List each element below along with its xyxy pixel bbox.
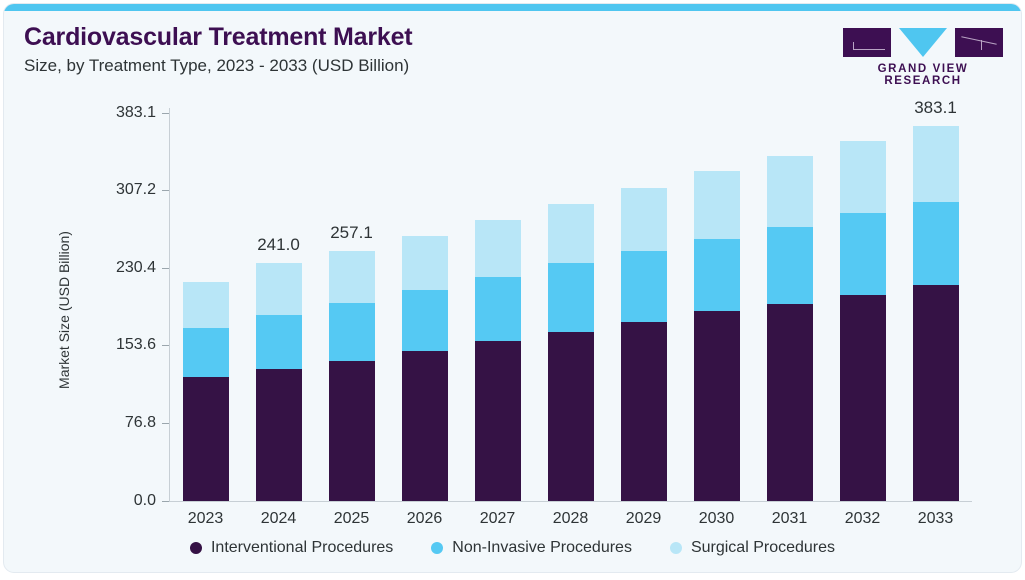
bar-segment[interactable] [475,341,521,501]
bar-segment[interactable] [621,251,667,322]
bar-segment[interactable] [548,332,594,501]
stacked-bar[interactable] [329,251,375,501]
bar-segment[interactable] [694,171,740,239]
stacked-bar[interactable] [475,220,521,501]
x-axis-tick-label: 2028 [531,510,611,528]
legend-label: Non-Invasive Procedures [452,539,632,557]
x-axis-tick-label: 2023 [166,510,246,528]
stacked-bar[interactable] [621,188,667,501]
y-axis-tick-label: 153.6 [74,336,156,354]
bar-segment[interactable] [402,351,448,501]
bar-segment[interactable] [694,239,740,311]
bar-group[interactable] [548,204,594,501]
stacked-bar[interactable] [840,141,886,501]
y-axis-line [169,108,170,501]
legend-color-swatch-icon [670,542,682,554]
bar-group[interactable] [329,251,375,501]
bar-segment[interactable] [767,227,813,304]
y-axis-label-text: Market Size (USD Billion) [56,200,72,420]
bar-group[interactable] [767,156,813,501]
stacked-bar[interactable] [913,126,959,501]
x-axis-tick-label: 2026 [385,510,465,528]
bar-segment[interactable] [256,263,302,315]
bar-chart-plot: Market Size (USD Billion) 0.076.8153.623… [4,4,1021,572]
bar-segment[interactable] [767,156,813,227]
x-axis-tick-label: 2030 [677,510,757,528]
chart-legend: Interventional ProceduresNon-Invasive Pr… [4,539,1021,557]
legend-color-swatch-icon [190,542,202,554]
bar-segment[interactable] [183,377,229,501]
bar-group[interactable] [694,171,740,501]
legend-label: Interventional Procedures [211,539,393,557]
x-axis-tick-label: 2031 [750,510,830,528]
y-axis-tick-mark [162,345,169,346]
bar-segment[interactable] [329,361,375,501]
x-axis-line [169,501,972,502]
bar-value-label: 257.1 [330,223,373,243]
y-axis-label: Market Size (USD Billion) [56,4,72,200]
x-axis-tick-label: 2027 [458,510,538,528]
y-axis-tick-mark [162,113,169,114]
stacked-bar[interactable] [256,263,302,501]
legend-item[interactable]: Surgical Procedures [670,539,835,557]
y-axis-tick-mark [162,190,169,191]
bar-segment[interactable] [548,263,594,332]
stacked-bar[interactable] [694,171,740,501]
bar-segment[interactable] [183,328,229,377]
bar-value-label: 241.0 [257,235,300,255]
stacked-bar[interactable] [402,236,448,501]
bar-segment[interactable] [475,220,521,277]
y-axis-tick-mark [162,423,169,424]
legend-label: Surgical Procedures [691,539,835,557]
y-axis-tick-label: 76.8 [74,414,156,432]
bar-segment[interactable] [913,285,959,501]
bar-group[interactable] [840,141,886,501]
bar-segment[interactable] [913,202,959,285]
bar-group[interactable] [183,282,229,501]
bar-group[interactable] [913,126,959,501]
legend-color-swatch-icon [431,542,443,554]
x-axis-tick-label: 2029 [604,510,684,528]
bar-segment[interactable] [329,303,375,361]
bar-segment[interactable] [767,304,813,501]
stacked-bar[interactable] [183,282,229,501]
bar-segment[interactable] [475,277,521,341]
bar-group[interactable] [621,188,667,501]
chart-card: Cardiovascular Treatment Market Size, by… [4,4,1021,572]
bar-segment[interactable] [256,369,302,501]
y-axis-tick-label: 230.4 [74,259,156,277]
bar-segment[interactable] [402,236,448,290]
legend-item[interactable]: Non-Invasive Procedures [431,539,632,557]
bar-value-label: 383.1 [914,98,957,118]
y-axis-tick-mark [162,501,169,502]
stacked-bar[interactable] [767,156,813,501]
bar-segment[interactable] [840,295,886,501]
bar-segment[interactable] [548,204,594,263]
bar-segment[interactable] [329,251,375,303]
bar-segment[interactable] [694,311,740,501]
bar-group[interactable] [402,236,448,501]
x-axis-tick-label: 2033 [896,510,976,528]
x-axis-tick-label: 2024 [239,510,319,528]
bar-group[interactable] [475,220,521,501]
y-axis-tick-label: 383.1 [74,104,156,122]
bar-segment[interactable] [256,315,302,369]
bar-segment[interactable] [402,290,448,351]
bar-group[interactable] [256,263,302,501]
stacked-bar[interactable] [548,204,594,501]
bar-segment[interactable] [913,126,959,202]
bar-segment[interactable] [840,213,886,295]
x-axis-tick-label: 2025 [312,510,392,528]
bar-segment[interactable] [621,322,667,501]
bar-segment[interactable] [183,282,229,328]
y-axis-tick-label: 307.2 [74,181,156,199]
y-axis-tick-label: 0.0 [74,492,156,510]
y-axis-tick-mark [162,268,169,269]
x-axis-tick-label: 2032 [823,510,903,528]
bar-segment[interactable] [840,141,886,213]
legend-item[interactable]: Interventional Procedures [190,539,393,557]
bar-segment[interactable] [621,188,667,251]
